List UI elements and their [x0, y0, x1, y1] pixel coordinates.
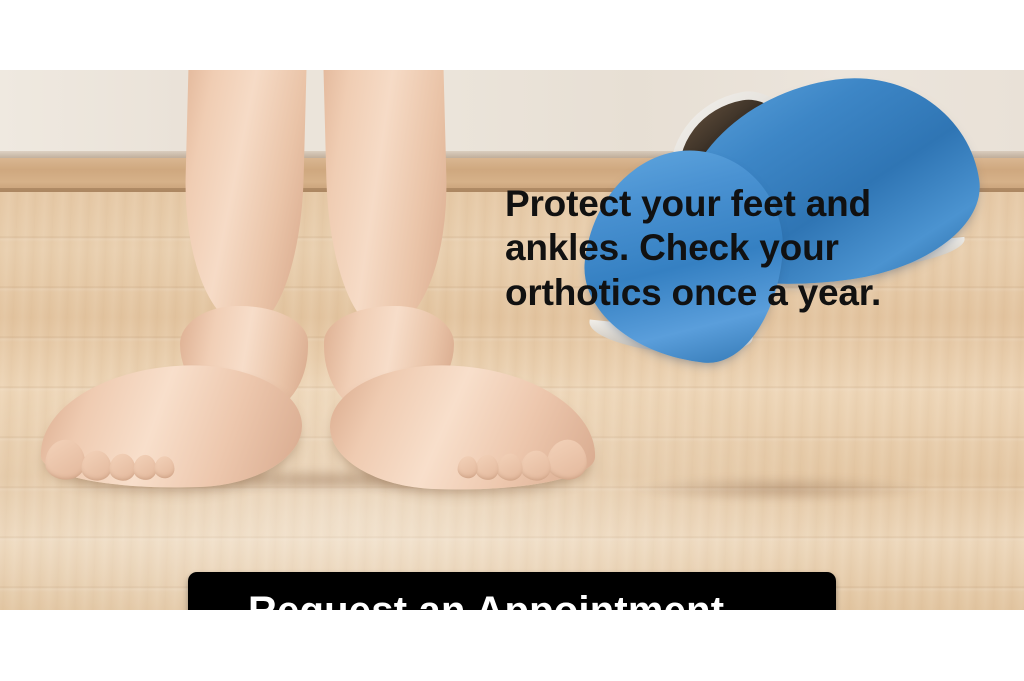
request-appointment-label: Request an Appointment: [248, 589, 724, 611]
banner-photo: Protect your feet and ankles. Check your…: [0, 70, 1024, 610]
orthotic-insoles: [0, 70, 1024, 610]
headline-line-1: Protect your feet and: [505, 182, 955, 226]
headline-text: Protect your feet and ankles. Check your…: [505, 182, 955, 315]
request-appointment-button[interactable]: Request an Appointment: [188, 572, 836, 610]
insoles-floor-shadow: [576, 470, 984, 508]
headline-line-3: orthotics once a year.: [505, 271, 955, 315]
promotional-banner: Protect your feet and ankles. Check your…: [0, 0, 1024, 681]
headline-line-2: ankles. Check your: [505, 226, 955, 270]
